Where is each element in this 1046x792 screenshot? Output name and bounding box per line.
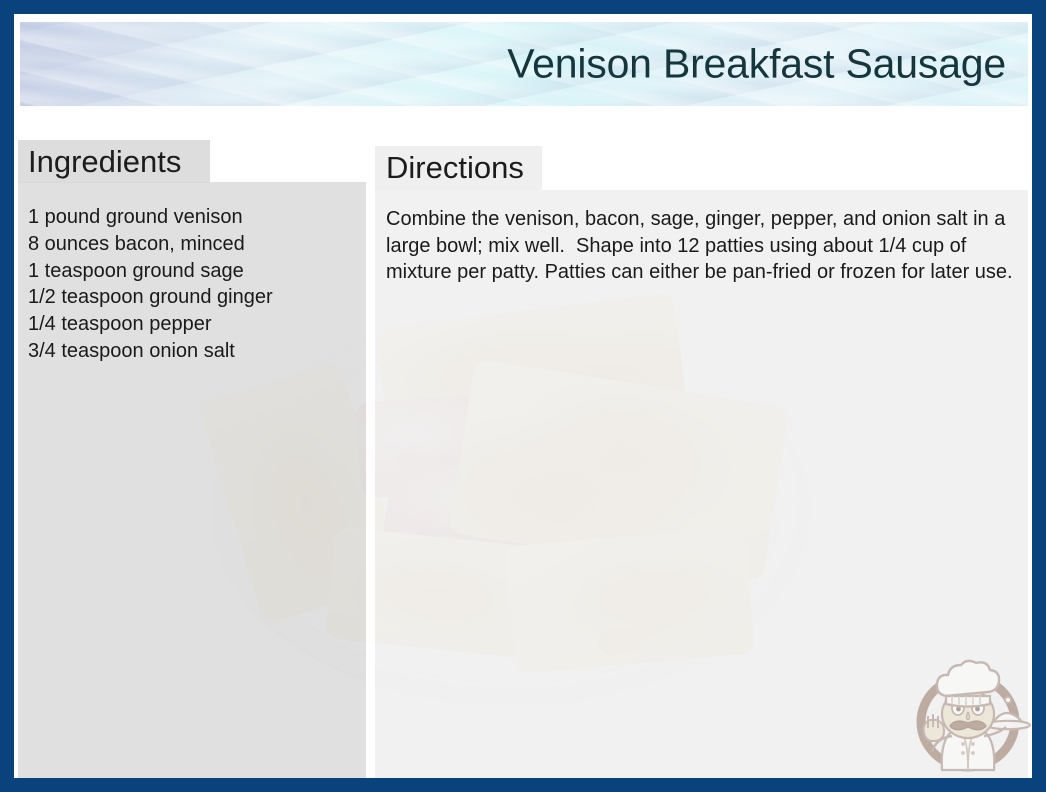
directions-body-text: Combine the venison, bacon, sage, ginger… (386, 206, 1024, 286)
list-item: 8 ounces bacon, minced (28, 231, 358, 258)
title-banner: Venison Breakfast Sausage (20, 22, 1028, 106)
list-item: 1 pound ground venison (28, 204, 358, 231)
list-item: 1/4 teaspoon pepper (28, 311, 358, 338)
recipe-slide: Venison Breakfast Sausage Ingredients (0, 0, 1046, 792)
list-item: 3/4 teaspoon onion salt (28, 338, 358, 365)
list-item: 1/2 teaspoon ground ginger (28, 284, 358, 311)
list-item: 1 teaspoon ground sage (28, 258, 358, 285)
directions-heading: Directions (386, 148, 524, 188)
ingredients-list: 1 pound ground venison 8 ounces bacon, m… (28, 204, 358, 365)
slide-inner-canvas: Venison Breakfast Sausage Ingredients (14, 14, 1032, 778)
page-title: Venison Breakfast Sausage (507, 44, 1006, 85)
panel-divider-seam (366, 110, 375, 778)
ingredients-heading: Ingredients (28, 142, 181, 182)
